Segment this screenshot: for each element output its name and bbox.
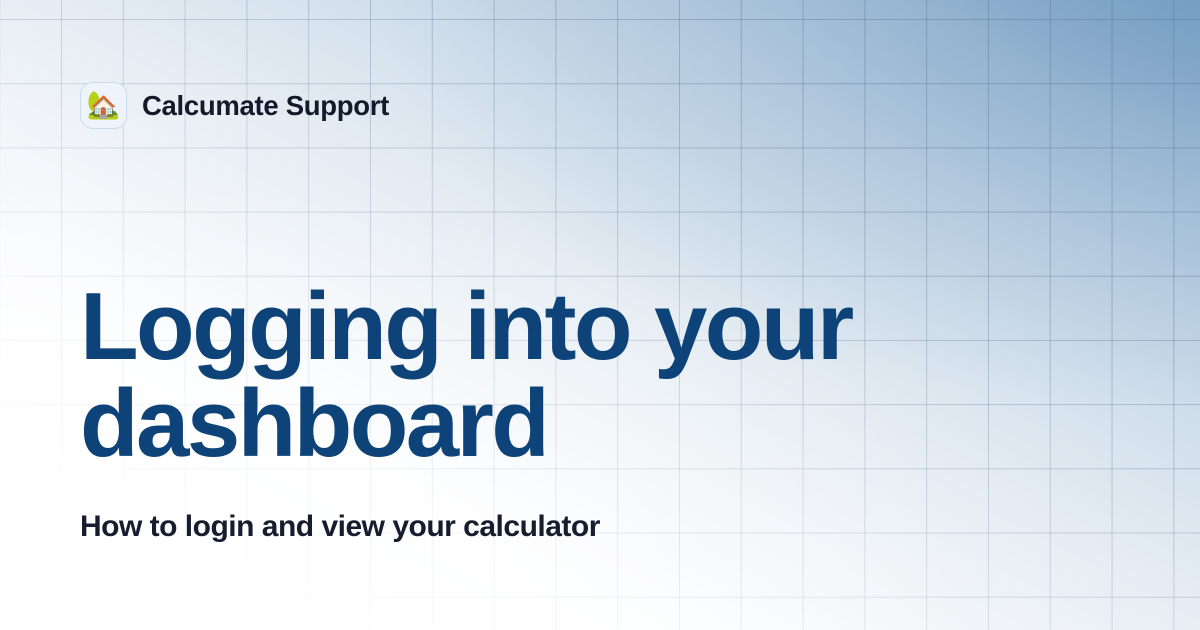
social-share-card: 🏡 Calcumate Support Logging into your da…: [0, 0, 1200, 630]
brand-logo-box: 🏡: [80, 82, 127, 129]
card-content: 🏡 Calcumate Support Logging into your da…: [0, 0, 1200, 630]
page-title: Logging into your dashboard: [80, 278, 920, 472]
house-with-garden-icon: 🏡: [87, 92, 121, 119]
brand-name: Calcumate Support: [142, 90, 389, 122]
brand-header: 🏡 Calcumate Support: [80, 82, 389, 129]
page-subtitle: How to login and view your calculator: [80, 508, 1020, 546]
